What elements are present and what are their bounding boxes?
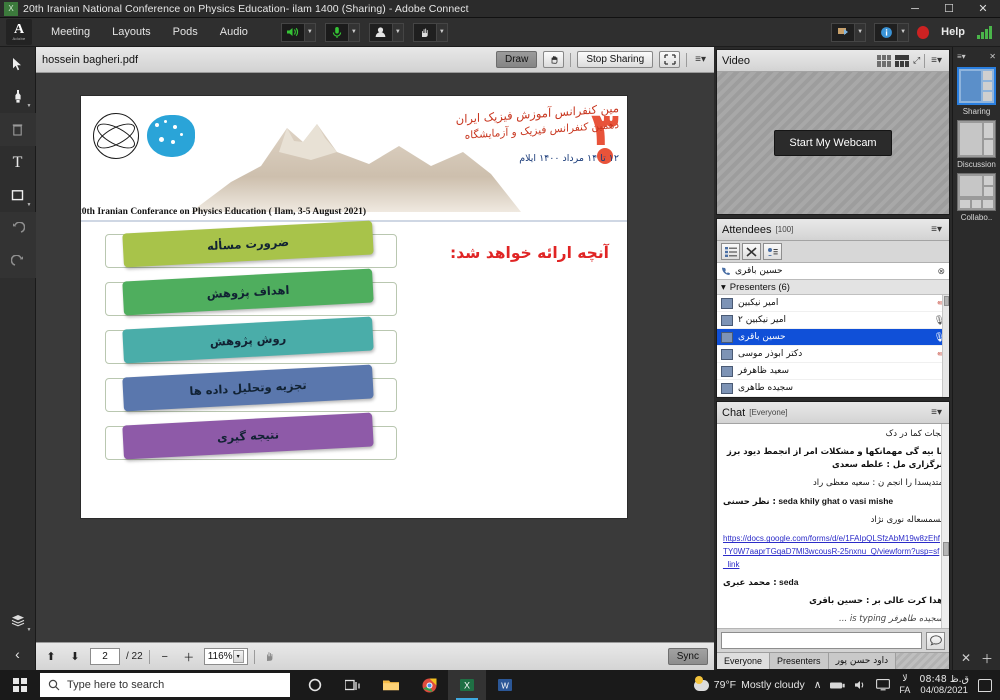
conference-title-fa: مین کنفرانس آموزش فیزیک ایران دهمین کنفر… [389,108,619,166]
connect-menubar: A Adobe Meeting Layouts Pods Audio ▼ ▼ [0,18,1000,47]
text-tool-icon[interactable]: T [0,146,36,179]
chat-pod-menu-icon[interactable]: ≡▾ [929,407,944,418]
attendee-search-value: حسین باقری [735,266,783,276]
conference-title-en: 20th Iranian Conferance on Physics Educa… [81,207,366,217]
share-pod-menu-icon[interactable]: ≡▾ [693,54,708,65]
layout-main-region [960,176,982,196]
attendee-options-icon[interactable] [763,243,782,260]
phone-icon [721,266,731,276]
info-control: ▼ [874,23,909,42]
agenda-row: روش پژوهش [105,323,425,371]
window-title: 20th Iranian National Conference on Phys… [23,3,469,15]
shape-tool-caret[interactable]: ▼ [27,202,32,208]
connection-strength-icon [977,26,992,39]
agenda-bars: ضرورت مسأله اهداف پژوهش روش پژوهش [105,227,425,512]
adobe-connect-window: X 20th Iranian National Conference on Ph… [0,0,1000,700]
agenda-row: ضرورت مسأله [105,227,425,275]
cortana-icon[interactable] [296,670,334,700]
layout-thumbnail [957,173,996,211]
attendee-row[interactable]: امیر نیکبین ✏ [717,295,949,312]
close-layouts-icon[interactable]: ✕ [961,651,971,665]
chat-pod-header: Chat [Everyone] ≡▾ [717,402,949,424]
attendees-pod-menu-icon[interactable]: ≡▾ [929,224,944,235]
select-tool-icon[interactable] [0,47,36,80]
chat-scope: [Everyone] [749,408,787,417]
layout-item-sharing[interactable]: Sharing [957,67,996,116]
maximize-button[interactable]: ☐ [932,0,966,18]
zoom-in-icon[interactable]: ＋ [180,648,198,666]
chat-sender: نظر حسنی : [723,497,776,507]
pointer-icon[interactable] [543,51,564,68]
clear-search-icon[interactable]: ⊗ [937,266,945,277]
file-explorer-icon[interactable] [372,670,410,700]
layout-main-region [961,71,981,101]
prev-page-icon[interactable]: ⬆ [42,648,60,666]
chat-link[interactable]: https://docs.google.com/forms/d/e/1FAIpQ… [723,532,943,571]
help-menu[interactable]: Help [937,26,969,38]
menu-meeting[interactable]: Meeting [40,18,101,47]
agenda-row: تجزیه وتحلیل داده ها [105,371,425,419]
zoom-level-select[interactable]: 116% ▾ [204,648,248,665]
attendee-avatar-icon [721,332,733,343]
layers-tool-icon[interactable]: ▼ [0,604,36,637]
chat-tab-everyone[interactable]: Everyone [717,653,770,669]
windows-taskbar: Type here to search X W [0,670,1000,700]
layout-label: Sharing [957,107,996,116]
physics-society-logo-icon [147,115,195,157]
attendees-toolbar [717,241,949,263]
attendee-avatar-icon [721,315,733,326]
redo-tool-icon[interactable] [0,245,36,278]
layout-main-region [960,123,982,155]
chat-pod-actions: ≡▾ [929,407,944,418]
window-titlebar: X 20th Iranian National Conference on Ph… [0,0,1000,18]
chat-message: متدیسدا را انجم ن : سعیه معظی راد [723,477,943,490]
window-controls: ─ ☐ ✕ [898,0,1000,18]
stop-sharing-button[interactable]: Stop Sharing [577,51,653,68]
layout-label: Discussion [957,160,996,169]
layout-side-region [984,176,993,196]
webcam-control: ▼ [369,23,404,42]
video-area: Start My Webcam [717,72,949,214]
layouts-rail: ≡▾ ✕ Sharing Discussion [952,47,1000,670]
chat-sender: محمد عبری : [723,578,777,588]
video-pod: Video ⤢ ≡▾ Start My Webcam [716,49,950,215]
clock-time: 08:48 ق.ظ [919,674,969,685]
layout-side-region [984,123,993,155]
share-pod-actions: Draw Stop Sharing ≡▾ [496,51,708,68]
attendee-name: سعید ظاهرفر [738,366,789,376]
layouts-close-icon[interactable]: ✕ [989,52,996,61]
cloud-icon [694,680,709,691]
layouts-rail-header: ≡▾ ✕ [953,49,1000,63]
laser-pointer-icon[interactable] [261,648,279,666]
agenda-row: نتیجه گیری [105,419,425,467]
volume-icon[interactable] [854,679,867,691]
layers-tool-caret[interactable]: ▼ [27,627,32,633]
chat-message: پسمسعاله نوری نژاد [723,514,943,527]
layouts-menu-icon[interactable]: ≡▾ [957,52,966,61]
windows-logo-icon [13,678,27,692]
chat-text: seda [779,577,798,587]
layout-thumbnail [957,120,996,158]
video-pod-menu-icon[interactable]: ≡▾ [929,55,944,66]
chat-message: هدا کرت عالی بر : حسین باقری [723,595,943,608]
attendee-avatar-icon [721,366,733,377]
chat-message: محمد عبری : seda [723,576,943,590]
weather-condition: Mostly cloudy [741,679,805,691]
delete-tool-icon[interactable] [0,113,36,146]
adobe-logo-letter: A [14,24,24,36]
attendees-scrollbar[interactable] [942,295,949,397]
chat-tab-private[interactable]: داود حسن پور [829,653,897,669]
agenda-row: اهداف پژوهش [105,275,425,323]
chat-messages: نجات کما در دک با بیه گی مهمانکها و مشکل… [717,424,949,628]
microphone-icon[interactable] [325,23,349,42]
attendee-name: امیر نیکبین ۲ [738,315,786,325]
breakout-rooms-icon[interactable] [742,243,761,260]
toolbar-separator [570,53,571,67]
attendees-list: امیر نیکبین ✏ امیر نیکبین ۲ 🎙 حسین باقری… [717,295,949,397]
webcam-icon[interactable] [369,23,393,42]
attendees-count: [100] [776,225,794,234]
attendees-pod-header: Attendees [100] ≡▾ [717,219,949,241]
filmstrip-view-icon[interactable] [895,55,909,67]
video-fullscreen-icon[interactable]: ⤢ [913,55,920,66]
raise-hand-icon[interactable] [413,23,437,42]
attendee-row[interactable]: دکتر ابوذر موسی ✏ [717,346,949,363]
clock[interactable]: 08:48 ق.ظ 04/08/2021 [919,674,969,696]
toolbar-separator-2 [686,53,687,67]
undo-tool-icon[interactable] [0,212,36,245]
speaker-dropdown-caret[interactable]: ▼ [305,23,316,42]
layout-top-region [960,176,993,196]
attendee-avatar-icon [721,298,733,309]
record-indicator-icon[interactable] [917,26,929,39]
search-icon [48,679,60,691]
excel-icon[interactable]: X [448,670,486,700]
search-placeholder: Type here to search [67,679,164,691]
share-screen-icon[interactable] [831,23,855,42]
attendee-avatar-icon [721,383,733,394]
presenters-group-header[interactable]: ▾ Presenters (6) [717,280,949,295]
svg-text:W: W [501,681,509,690]
close-button[interactable]: ✕ [966,0,1000,18]
slide-content: آنچه ارائه خواهد شد: ضرورت مسأله اهداف پ… [81,222,627,518]
menu-layouts[interactable]: Layouts [101,18,162,47]
weather-widget[interactable]: 79°F Mostly cloudy [694,679,805,691]
system-tray: 79°F Mostly cloudy ∧ لا FA 08:48 ق.ظ 04/… [694,674,1000,696]
layout-side-region [983,71,992,101]
chat-tabs: Everyone Presenters داود حسن پور [717,652,949,669]
chat-typing-indicator: سجیده طاهرفر is typing ... [723,613,943,626]
share-pod: hossein bagheri.pdf Draw Stop Sharing ≡▾ [36,47,714,670]
page-total: / 22 [126,651,143,662]
share-screen-control: ▼ [831,23,866,42]
layout-item-discussion[interactable]: Discussion [957,120,996,169]
attendee-avatar-icon [721,349,733,360]
next-page-icon[interactable]: ⬇ [66,648,84,666]
attendee-name: سجیده طاهری [738,383,793,393]
info-caret[interactable]: ▼ [898,23,909,42]
adobe-logo-sub: Adobe [12,36,25,41]
chat-scrollbar[interactable] [941,424,949,628]
shape-tool-icon[interactable]: ▼ [0,179,36,212]
start-my-webcam-button[interactable]: Start My Webcam [774,130,891,156]
raise-hand-dropdown-caret[interactable]: ▼ [437,23,448,42]
chat-pod-title: Chat [722,407,745,419]
display-icon[interactable] [876,679,890,691]
attendees-pod-actions: ≡▾ [929,224,944,235]
layouts-rail-footer: ✕ ＋ [953,646,1000,670]
chat-message: با بیه گی مهمانکها و مشکلات امر از انجمط… [723,446,943,472]
chat-input-row [717,628,949,652]
attendee-row-selected[interactable]: حسین باقری 🎙 [717,329,949,346]
share-screen-caret[interactable]: ▼ [855,23,866,42]
add-layout-icon[interactable]: ＋ [981,650,993,667]
layout-thumbnail [957,67,996,105]
sync-button[interactable]: Sync [668,648,708,665]
microphone-dropdown-caret[interactable]: ▼ [349,23,360,42]
pen-tool-caret[interactable]: ▼ [27,103,32,109]
adobe-logo-icon: A Adobe [6,19,32,45]
chat-message: نظر حسنی : seda khily ghat o vasi mishe [723,495,943,509]
speaker-control: ▼ [281,23,316,42]
task-view-icon[interactable] [334,670,372,700]
video-pod-title: Video [722,55,750,67]
slide-heading: آنچه ارائه خواهد شد: [450,244,609,262]
grid-view-icon[interactable] [877,55,891,67]
pdf-separator [149,650,150,664]
draw-button[interactable]: Draw [496,51,537,68]
attendee-row[interactable]: سعید ظاهرفر [717,363,949,380]
attendee-row[interactable]: سجیده طاهری [717,380,949,397]
chat-text: seda khily ghat o vasi mishe [778,496,893,506]
connect-tool-group: ▼ ▼ ▼ ▼ [281,23,448,42]
taskbar-icons: X W [296,670,524,700]
chat-input[interactable] [721,632,922,649]
action-center-icon[interactable] [978,679,992,692]
pdf-separator-2 [254,650,255,664]
right-pods-column: Video ⤢ ≡▾ Start My Webcam Attendees [714,47,952,670]
collapse-toolbar-icon[interactable]: ‹ [0,637,36,670]
attendees-pod-title: Attendees [722,224,772,236]
shared-document-name: hossein bagheri.pdf [42,54,138,66]
chat-message: نجات کما در دک [723,428,943,441]
temperature: 79°F [714,679,736,691]
menu-audio[interactable]: Audio [209,18,259,47]
info-icon[interactable] [874,23,898,42]
zoom-dropdown-caret[interactable]: ▾ [233,650,244,663]
attendees-pod: Attendees [100] ≡▾ [716,218,950,398]
attendee-search-row[interactable]: حسین باقری ⊗ [717,263,949,280]
connect-right-controls: ▼ ▼ Help [831,23,1000,42]
chat-pod: Chat [Everyone] ≡▾ نجات کما در دک با بیه… [716,401,950,670]
chat-send-icon[interactable] [926,632,945,650]
fullscreen-icon[interactable] [659,51,680,68]
start-button[interactable] [0,670,40,700]
share-pod-body: ۳ مین کنفرانس آموزش فیزیک ایران دهمین کن… [36,73,714,642]
layout-item-collaboration[interactable]: Collabo.. [957,173,996,222]
slide-banner: ۳ مین کنفرانس آموزش فیزیک ایران دهمین کن… [81,96,627,222]
svg-text:X: X [464,680,470,690]
keyboard-layout[interactable]: لا FA [899,674,910,696]
layout-label: Collabo.. [957,213,996,222]
share-pod-header: hossein bagheri.pdf Draw Stop Sharing ≡▾ [36,47,714,73]
layout-bottom-region [960,200,993,208]
speaker-icon[interactable] [281,23,305,42]
pdf-toolbar: ⬆ ⬇ 2 / 22 − ＋ 116% ▾ Sync [36,642,714,670]
group-caret-icon[interactable]: ▾ [721,282,726,293]
video-pod-header: Video ⤢ ≡▾ [717,50,949,72]
video-sep [924,54,925,68]
atom-logo-icon [93,113,139,159]
attendee-name: حسین باقری [738,332,786,342]
microphone-control: ▼ [325,23,360,42]
conference-date-fa: ۱۲ تا ۱۴ مرداد ۱۴۰۰ ایلام [389,152,619,166]
network-icon[interactable] [830,680,845,691]
pen-tool-icon[interactable]: ▼ [0,80,36,113]
pdf-slide: ۳ مین کنفرانس آموزش فیزیک ایران دهمین کن… [81,96,627,518]
attendee-row[interactable]: امیر نیکبین ۲ 🎙 [717,312,949,329]
video-pod-actions: ⤢ ≡▾ [877,54,944,68]
zoom-out-icon[interactable]: − [156,648,174,666]
attendee-name: امیر نیکبین [738,298,778,308]
tray-expand-icon[interactable]: ∧ [814,679,822,691]
zoom-level-value: 116% [208,651,233,662]
keyboard-layout-bottom: FA [899,685,910,696]
keyboard-layout-top: لا [899,674,910,685]
chat-tabs-filler [896,653,949,669]
page-number-input[interactable]: 2 [90,648,120,665]
chat-tab-presenters[interactable]: Presenters [770,653,829,669]
webcam-dropdown-caret[interactable]: ▼ [393,23,404,42]
group-label: Presenters (6) [730,282,790,293]
meeting-stage: ▼ T ▼ ▼ ‹ [0,47,1000,670]
app-icon: X [4,2,18,16]
list-view-icon[interactable] [721,243,740,260]
attendee-name: دکتر ابوذر موسی [738,349,802,359]
drawing-toolbar: ▼ T ▼ ▼ ‹ [0,47,36,670]
taskbar-search[interactable]: Type here to search [40,673,290,697]
menu-pods[interactable]: Pods [162,18,209,47]
minimize-button[interactable]: ─ [898,0,932,18]
clock-date: 04/08/2021 [919,685,969,696]
raise-hand-control: ▼ [413,23,448,42]
word-icon[interactable]: W [486,670,524,700]
chrome-icon[interactable] [410,670,448,700]
